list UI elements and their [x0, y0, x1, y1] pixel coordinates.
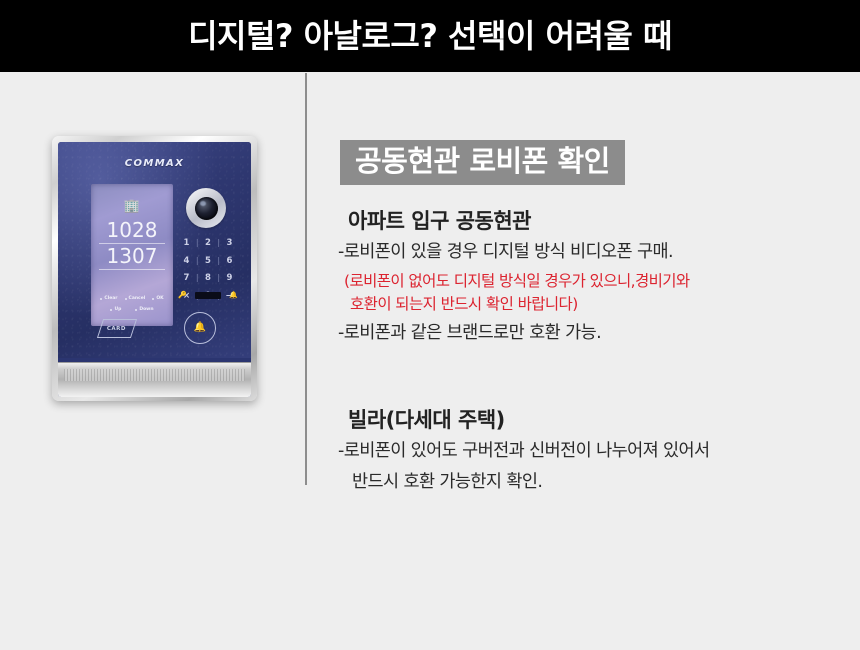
device-indicator-row: 🔑 🔔: [178, 292, 238, 299]
section1-bullet-1: -로비폰이 있을 경우 디지털 방식 비디오폰 구매.: [338, 240, 850, 265]
device-lcd-screen: 🏢 1028 1307 Clear Cancel OK Up Down: [91, 184, 173, 326]
dot-icon: [125, 298, 127, 300]
header-band: 디지털? 아날로그? 선택이 어려울 때: [0, 0, 860, 72]
key-4[interactable]: 4: [180, 257, 193, 266]
keypad-separator: |: [217, 274, 220, 282]
lcd-btn-clear[interactable]: Clear: [100, 296, 117, 301]
lcd-btn-clear-label: Clear: [104, 296, 117, 301]
lcd-btn-down-label: Down: [139, 307, 153, 312]
lobby-phone-device-image: COMMAX 🏢 1028 1307 Clear Cancel OK Up Do…: [52, 136, 257, 401]
bell-icon: 🔔: [229, 292, 238, 299]
key-9[interactable]: 9: [223, 274, 236, 283]
keypad-row: 4 | 5 | 6: [180, 257, 236, 266]
section2-heading: 빌라(다세대 주택): [348, 407, 850, 433]
lcd-line-2: 1307: [99, 246, 165, 270]
dot-icon: [100, 298, 102, 300]
commax-brand-logo: COMMAX: [58, 158, 251, 169]
keypad-separator: |: [217, 239, 220, 247]
card-label: CARD: [107, 326, 126, 332]
dot-icon: [110, 309, 112, 311]
key-1[interactable]: 1: [180, 239, 193, 248]
section2-bullet-2: 반드시 호환 가능한지 확인.: [352, 470, 850, 495]
section1-red-note-line2: 호환이 되는지 반드시 확인 바랍니다): [350, 293, 850, 315]
keypad-row: 7 | 8 | 9: [180, 274, 236, 283]
keypad-separator: |: [196, 257, 199, 265]
lcd-btn-cancel[interactable]: Cancel: [125, 296, 146, 301]
speaker-grille: [58, 362, 251, 397]
camera-lens-icon: [186, 188, 226, 228]
keypad-separator: |: [217, 257, 220, 265]
lcd-btn-ok-label: OK: [156, 296, 163, 301]
rfid-card-area[interactable]: CARD: [97, 319, 137, 338]
keypad-row: 1 | 2 | 3: [180, 239, 236, 248]
dot-icon: [135, 309, 137, 311]
key-5[interactable]: 5: [201, 257, 214, 266]
section1-heading: 아파트 입구 공동현관: [348, 208, 850, 234]
key-8[interactable]: 8: [201, 274, 214, 283]
lcd-button-row-2: Up Down: [94, 307, 170, 312]
lcd-line-1: 1028: [99, 220, 165, 244]
key-6[interactable]: 6: [223, 257, 236, 266]
section-spacer: [330, 346, 850, 384]
section2-bullet-1: -로비폰이 있어도 구버전과 신버전이 나누어져 있어서: [338, 439, 850, 464]
keypad-separator: |: [196, 239, 199, 247]
keypad-separator: |: [196, 274, 199, 282]
call-bell-icon[interactable]: 🔔: [184, 312, 216, 344]
key-7[interactable]: 7: [180, 274, 193, 283]
page-title: 디지털? 아날로그? 선택이 어려울 때: [188, 20, 672, 52]
lcd-btn-up[interactable]: Up: [110, 307, 121, 312]
section1-bullet-2: -로비폰과 같은 브랜드로만 호환 가능.: [338, 321, 850, 346]
lcd-button-row-1: Clear Cancel OK: [94, 296, 170, 301]
key-3[interactable]: 3: [223, 239, 236, 248]
ir-sensor-window: [195, 292, 221, 299]
device-body: COMMAX 🏢 1028 1307 Clear Cancel OK Up Do…: [58, 142, 251, 397]
lcd-btn-cancel-label: Cancel: [129, 296, 146, 301]
device-bezel: COMMAX 🏢 1028 1307 Clear Cancel OK Up Do…: [52, 136, 257, 401]
key-handle-icon: 🔑: [178, 292, 187, 299]
lcd-btn-down[interactable]: Down: [135, 307, 153, 312]
section-banner: 공동현관 로비폰 확인: [340, 140, 625, 185]
lcd-btn-up-label: Up: [114, 307, 121, 312]
dot-icon: [152, 298, 154, 300]
building-icon: 🏢: [91, 200, 173, 213]
key-2[interactable]: 2: [201, 239, 214, 248]
camera-lens-glass: [195, 197, 218, 220]
lcd-btn-ok[interactable]: OK: [152, 296, 163, 301]
section1-red-note: (로비폰이 없어도 디지털 방식일 경우가 있으니,경비기와 호환이 되는지 반…: [344, 270, 850, 315]
column-divider: [305, 73, 307, 485]
section1-red-note-line1: (로비폰이 없어도 디지털 방식일 경우가 있으니,경비기와: [344, 272, 690, 290]
content-column: 공동현관 로비폰 확인 아파트 입구 공동현관 -로비폰이 있을 경우 디지털 …: [330, 140, 850, 495]
grille-slots: [64, 369, 245, 381]
device-keypad[interactable]: 1 | 2 | 3 4 | 5 | 6 7 | 8 |: [180, 239, 236, 300]
